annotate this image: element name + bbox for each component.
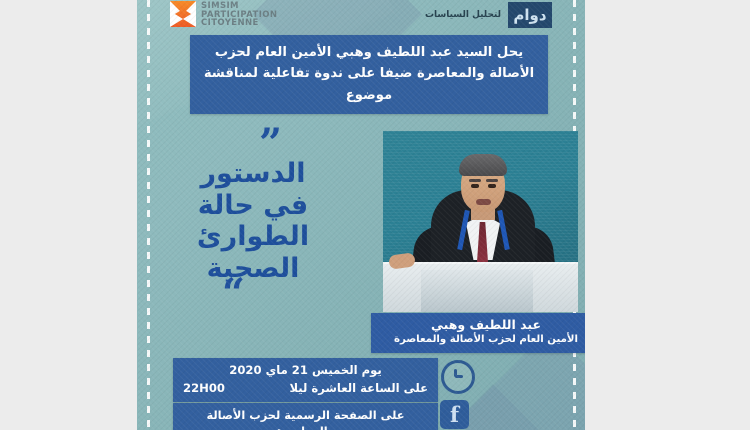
announcement-banner: يحل السيد عبد اللطيف وهبي الأمين العام ل… [190,35,548,114]
eyebrow-left [469,179,481,182]
speaker-role: الأمين العام لحزب الأصالة والمعاصرة [377,333,585,347]
dawm-logo-mark: دوام [513,6,546,24]
quote-line-2: في حالة [173,190,333,222]
dawm-logo-icon: دوام [508,2,552,28]
simsim-logo: SIMSIM PARTICIPATION CITOYENNE [170,1,277,28]
eyebrow-right [486,179,498,182]
quote-line-3: الطوارئ [173,221,333,253]
speaker-name: عبد اللطيف وهبي [377,317,585,333]
dashed-border-left [147,0,150,430]
facebook-glyph: f [450,404,459,425]
clock-icon [441,360,475,394]
quote-close-mark: “ [173,286,333,310]
event-time-value: 22H00 [183,380,225,398]
speaker-nameplate: عبد اللطيف وهبي الأمين العام لحزب الأصال… [371,313,585,353]
event-date: يوم الخميس 21 ماي 2020 [183,362,428,380]
mouth [476,199,491,205]
event-time-text: على الساعة العاشرة ليلا [290,380,429,398]
dawm-tagline: لتحليل السياسات [425,10,501,20]
broadcast-banner: على الصفحة الرسمية لحزب الأصالة والمعاصر… [173,403,438,430]
simsim-hourglass-icon [170,1,196,27]
simsim-logo-text: SIMSIM PARTICIPATION CITOYENNE [201,1,277,28]
quote-open-mark: ” [173,136,333,158]
dawm-logo: لتحليل السياسات دوام [425,2,552,28]
quote-line-1: الدستور [173,158,333,190]
speaker-photo [383,131,578,312]
quote-line-4: الصحية [173,253,333,285]
topic-quote-block: ” الدستور في حالة الطوارئ الصحية “ [173,136,333,310]
facebook-icon[interactable]: f [440,400,469,429]
screenshot-canvas: SIMSIM PARTICIPATION CITOYENNE لتحليل ال… [0,0,750,430]
simsim-logo-line3: CITOYENNE [201,19,277,28]
eye-right [488,184,496,188]
hair [459,154,507,176]
schedule-banner: يوم الخميس 21 ماي 2020 على الساعة العاشر… [173,358,438,402]
podium-front-panel [421,270,533,312]
eye-left [471,184,479,188]
event-poster: SIMSIM PARTICIPATION CITOYENNE لتحليل ال… [137,0,585,430]
